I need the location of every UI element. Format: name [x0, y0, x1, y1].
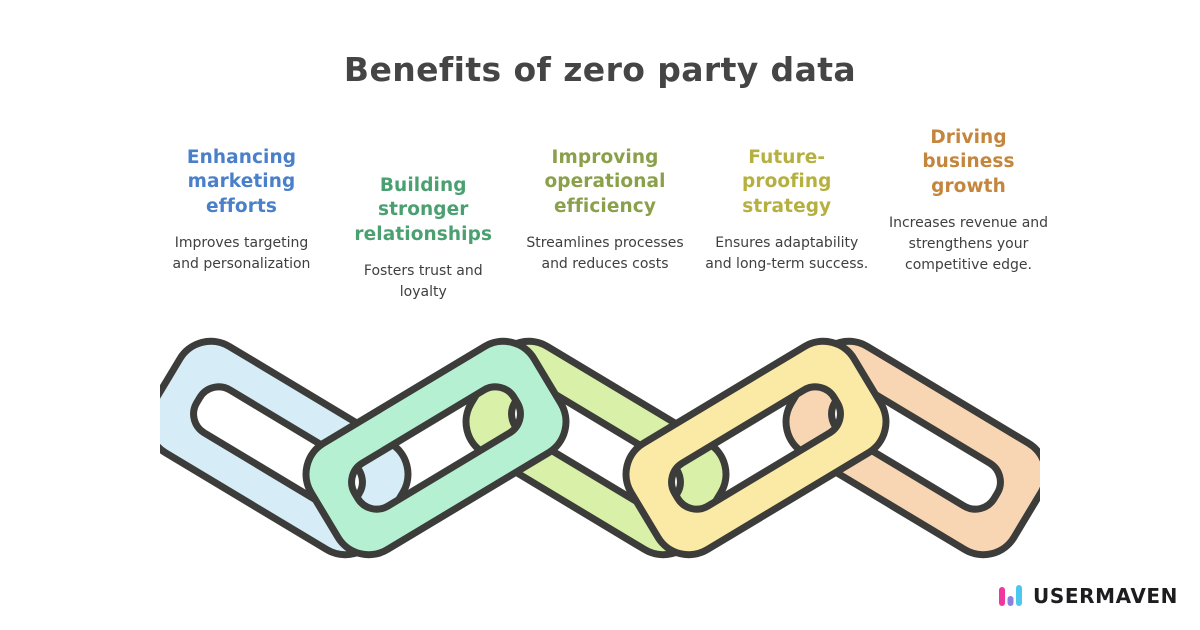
benefit-description: Improves targeting and personalization	[160, 233, 323, 274]
benefit-column-5: Driving business growth Increases revenu…	[887, 126, 1050, 275]
benefit-column-2: Building stronger relationships Fosters …	[342, 174, 505, 303]
bar-pink	[999, 587, 1005, 606]
benefit-title: Improving operational efficiency	[524, 146, 687, 219]
benefit-description: Streamlines processes and reduces costs	[524, 233, 687, 274]
benefit-description: Ensures adaptability and long-term succe…	[705, 233, 868, 274]
chain-link	[613, 330, 900, 568]
brand-logo: USERMAVEN	[998, 584, 1178, 608]
chain-link	[293, 330, 580, 568]
chain-links	[160, 330, 1040, 568]
usermaven-bars-icon	[998, 585, 1024, 607]
benefit-title: Driving business growth	[887, 126, 1050, 199]
benefit-description: Increases revenue and strengthens your c…	[887, 213, 1050, 275]
benefit-title: Future-proofing strategy	[705, 146, 868, 219]
page-title: Benefits of zero party data	[0, 50, 1200, 89]
benefit-description: Fosters trust and loyalty	[342, 261, 505, 302]
benefits-row: Enhancing marketing efforts Improves tar…	[160, 126, 1050, 303]
benefit-column-4: Future-proofing strategy Ensures adaptab…	[705, 146, 868, 275]
logo-wordmark: USERMAVEN	[1033, 584, 1178, 608]
benefit-title: Enhancing marketing efforts	[160, 146, 323, 219]
chain-illustration	[160, 330, 1040, 580]
benefit-title: Building stronger relationships	[342, 174, 505, 247]
bar-purple	[1007, 596, 1013, 606]
infographic-canvas: Benefits of zero party data Enhancing ma…	[0, 0, 1200, 630]
bar-cyan	[1016, 585, 1022, 606]
benefit-column-1: Enhancing marketing efforts Improves tar…	[160, 146, 323, 275]
benefit-column-3: Improving operational efficiency Streaml…	[524, 146, 687, 275]
